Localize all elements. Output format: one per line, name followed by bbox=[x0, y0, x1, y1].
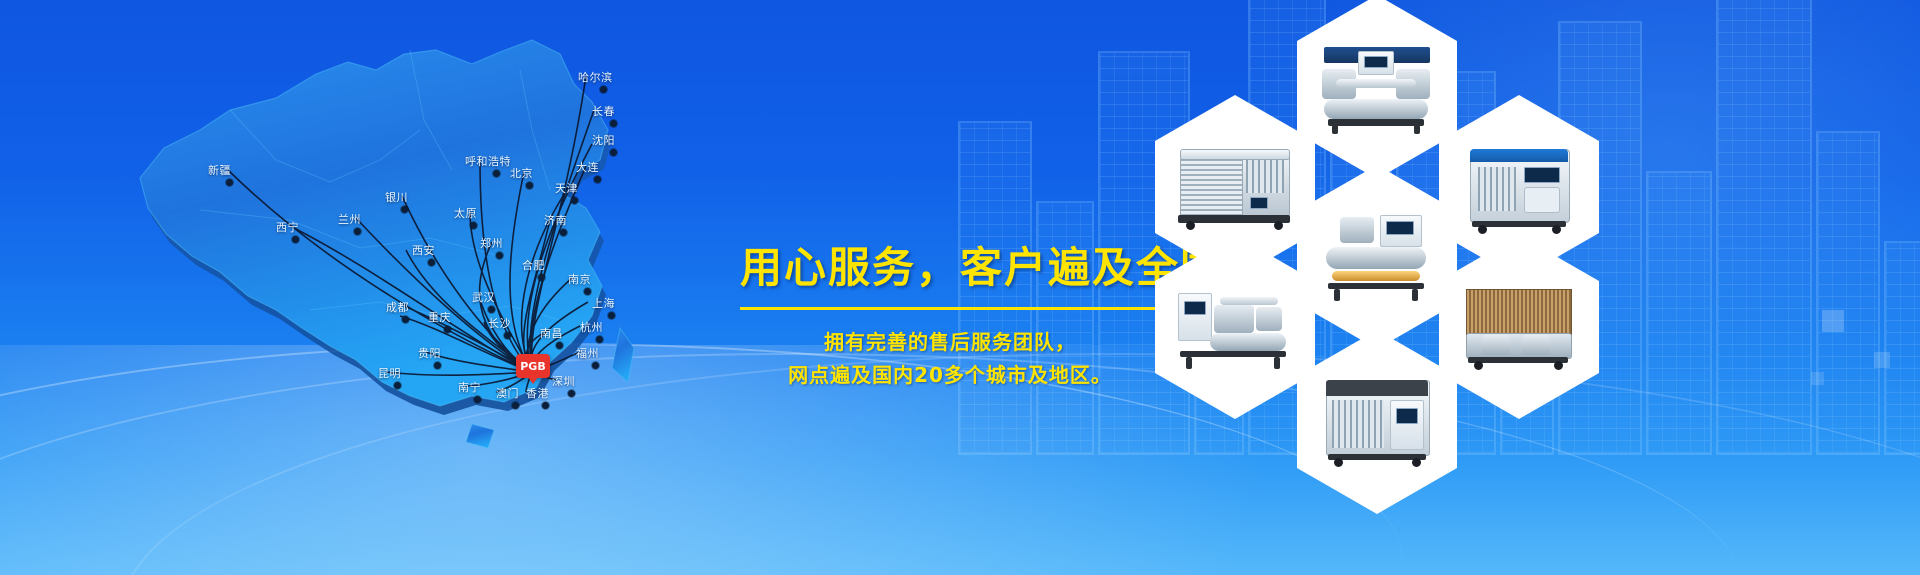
city-label: 贵阳 bbox=[418, 348, 441, 359]
city-label: 呼和浩特 bbox=[465, 156, 511, 167]
city-label: 郑州 bbox=[480, 238, 503, 249]
city-dot-marker[interactable] bbox=[610, 149, 617, 156]
city-dot-marker[interactable] bbox=[444, 326, 451, 333]
city-label: 南昌 bbox=[540, 328, 563, 339]
product-hex-finned-condenser-chiller[interactable] bbox=[1439, 235, 1599, 419]
city-label: 天津 bbox=[555, 183, 578, 194]
city-dot-marker[interactable] bbox=[592, 362, 599, 369]
city-dot-marker[interactable] bbox=[470, 222, 477, 229]
city-label: 哈尔滨 bbox=[578, 72, 613, 83]
promo-banner: 新疆西宁兰州银川呼和浩特北京天津哈尔滨长春沈阳大连太原西安郑州济南合肥南京上海杭… bbox=[0, 0, 1920, 575]
city-dot-marker[interactable] bbox=[596, 336, 603, 343]
city-dot-marker[interactable] bbox=[608, 312, 615, 319]
city-label: 长沙 bbox=[488, 318, 511, 329]
city-label: 深圳 bbox=[552, 376, 575, 387]
city-label: 长春 bbox=[592, 106, 615, 117]
city-dot-marker[interactable] bbox=[394, 382, 401, 389]
city-dot-marker[interactable] bbox=[571, 197, 578, 204]
city-label: 西安 bbox=[412, 245, 435, 256]
headline-divider bbox=[740, 307, 1160, 310]
city-dot-marker[interactable] bbox=[292, 236, 299, 243]
city-label: 成都 bbox=[386, 302, 409, 313]
banner-headline: 用心服务，客户遍及全国 bbox=[740, 245, 1160, 291]
city-label: 北京 bbox=[510, 168, 533, 179]
city-label: 杭州 bbox=[580, 322, 603, 333]
hub-marker-pgb[interactable]: PGB bbox=[516, 354, 550, 378]
banner-subtitle: 拥有完善的售后服务团队， 网点遍及国内20多个城市及地区。 bbox=[740, 326, 1160, 392]
city-label: 南宁 bbox=[458, 382, 481, 393]
city-dot-marker[interactable] bbox=[526, 182, 533, 189]
city-dot-marker[interactable] bbox=[568, 390, 575, 397]
city-label: 武汉 bbox=[472, 292, 495, 303]
city-label: 上海 bbox=[592, 298, 615, 309]
city-dot-marker[interactable] bbox=[488, 306, 495, 313]
city-label: 银川 bbox=[385, 192, 408, 203]
china-map-shape bbox=[80, 10, 760, 570]
product-hexagon-cluster bbox=[1160, 0, 1920, 575]
product-hex-water-cooled-screw-chiller[interactable] bbox=[1297, 0, 1457, 179]
city-label: 沈阳 bbox=[592, 135, 615, 146]
city-dot-marker[interactable] bbox=[402, 316, 409, 323]
city-dot-marker[interactable] bbox=[556, 342, 563, 349]
city-dot-marker[interactable] bbox=[493, 170, 500, 177]
product-hex-open-type-condensing-unit[interactable] bbox=[1155, 235, 1315, 419]
city-label: 大连 bbox=[576, 162, 599, 173]
city-dot-marker[interactable] bbox=[428, 259, 435, 266]
product-hex-cabinet-water-chiller[interactable] bbox=[1297, 330, 1457, 514]
city-label: 重庆 bbox=[428, 312, 451, 323]
subtitle-line-1: 拥有完善的售后服务团队， bbox=[740, 326, 1160, 359]
city-label: 澳门 bbox=[496, 388, 519, 399]
city-label: 太原 bbox=[454, 208, 477, 219]
city-label: 南京 bbox=[568, 274, 591, 285]
product-hex-water-cooled-unit[interactable] bbox=[1297, 165, 1457, 349]
city-dot-marker[interactable] bbox=[354, 228, 361, 235]
city-dot-marker[interactable] bbox=[584, 288, 591, 295]
city-dot-marker[interactable] bbox=[512, 402, 519, 409]
subtitle-line-2: 网点遍及国内20多个城市及地区。 bbox=[740, 359, 1160, 392]
banner-copy: 用心服务，客户遍及全国 拥有完善的售后服务团队， 网点遍及国内20多个城市及地区… bbox=[740, 245, 1160, 392]
city-label: 兰州 bbox=[338, 214, 361, 225]
city-dot-marker[interactable] bbox=[496, 252, 503, 259]
city-label: 香港 bbox=[526, 388, 549, 399]
china-distribution-map: 新疆西宁兰州银川呼和浩特北京天津哈尔滨长春沈阳大连太原西安郑州济南合肥南京上海杭… bbox=[80, 10, 760, 570]
city-dot-marker[interactable] bbox=[226, 179, 233, 186]
city-label: 济南 bbox=[544, 215, 567, 226]
city-dot-marker[interactable] bbox=[600, 86, 607, 93]
city-dot-marker[interactable] bbox=[401, 206, 408, 213]
city-label: 合肥 bbox=[522, 260, 545, 271]
city-dot-marker[interactable] bbox=[594, 176, 601, 183]
city-dot-marker[interactable] bbox=[538, 274, 545, 281]
city-dot-marker[interactable] bbox=[474, 396, 481, 403]
city-dot-marker[interactable] bbox=[504, 332, 511, 339]
city-dot-marker[interactable] bbox=[560, 229, 567, 236]
city-label: 西宁 bbox=[276, 222, 299, 233]
city-dot-marker[interactable] bbox=[610, 120, 617, 127]
city-label: 昆明 bbox=[378, 368, 401, 379]
city-dot-marker[interactable] bbox=[542, 402, 549, 409]
city-dot-marker[interactable] bbox=[434, 362, 441, 369]
city-label: 新疆 bbox=[208, 165, 231, 176]
city-label: 福州 bbox=[576, 348, 599, 359]
